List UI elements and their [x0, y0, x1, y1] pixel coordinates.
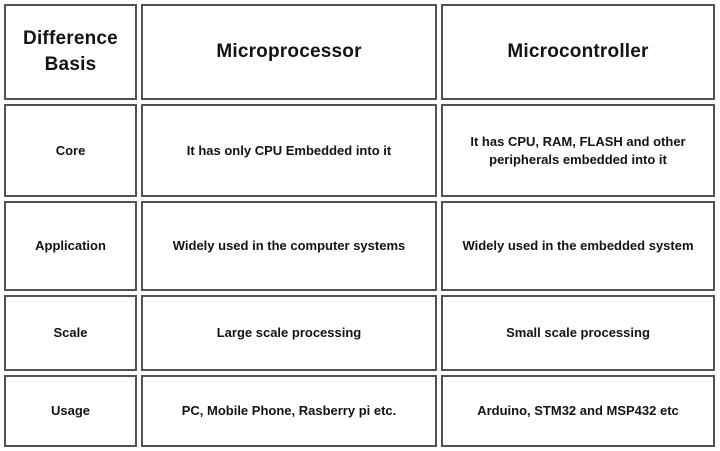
- cell-text: It has CPU, RAM, FLASH and other periphe…: [451, 133, 705, 168]
- row-label-text: Scale: [14, 324, 127, 342]
- row-label-text: Usage: [14, 402, 127, 420]
- column-header-microprocessor: Microprocessor: [141, 4, 437, 100]
- cell-usage-microprocessor: PC, Mobile Phone, Rasberry pi etc.: [141, 375, 437, 447]
- cell-scale-microcontroller: Small scale processing: [441, 295, 715, 371]
- cell-text: Widely used in the embedded system: [451, 237, 705, 255]
- table-row: Usage PC, Mobile Phone, Rasberry pi etc.…: [4, 375, 715, 447]
- cell-application-microprocessor: Widely used in the computer systems: [141, 201, 437, 291]
- cell-text: Small scale processing: [451, 324, 705, 342]
- column-header-microcontroller: Microcontroller: [441, 4, 715, 100]
- row-label-text: Core: [14, 142, 127, 160]
- column-header-difference-basis: Difference Basis: [4, 4, 137, 100]
- column-header-label: Microcontroller: [451, 39, 705, 65]
- cell-usage-microcontroller: Arduino, STM32 and MSP432 etc: [441, 375, 715, 447]
- row-label-application: Application: [4, 201, 137, 291]
- comparison-table-container: Difference Basis Microprocessor Microcon…: [0, 0, 720, 404]
- row-label-text: Application: [14, 237, 127, 255]
- row-label-usage: Usage: [4, 375, 137, 447]
- table-row: Application Widely used in the computer …: [4, 201, 715, 291]
- cell-text: PC, Mobile Phone, Rasberry pi etc.: [151, 402, 427, 420]
- cell-text: Widely used in the computer systems: [151, 237, 427, 255]
- cell-text: Arduino, STM32 and MSP432 etc: [451, 402, 705, 420]
- cell-core-microprocessor: It has only CPU Embedded into it: [141, 104, 437, 197]
- row-label-scale: Scale: [4, 295, 137, 371]
- cell-core-microcontroller: It has CPU, RAM, FLASH and other periphe…: [441, 104, 715, 197]
- cell-text: It has only CPU Embedded into it: [151, 142, 427, 160]
- row-label-core: Core: [4, 104, 137, 197]
- table-row: Core It has only CPU Embedded into it It…: [4, 104, 715, 197]
- comparison-table: Difference Basis Microprocessor Microcon…: [0, 0, 719, 451]
- table-header-row: Difference Basis Microprocessor Microcon…: [4, 4, 715, 100]
- cell-application-microcontroller: Widely used in the embedded system: [441, 201, 715, 291]
- column-header-label: Difference Basis: [14, 26, 127, 77]
- column-header-label: Microprocessor: [151, 39, 427, 65]
- cell-scale-microprocessor: Large scale processing: [141, 295, 437, 371]
- cell-text: Large scale processing: [151, 324, 427, 342]
- table-row: Scale Large scale processing Small scale…: [4, 295, 715, 371]
